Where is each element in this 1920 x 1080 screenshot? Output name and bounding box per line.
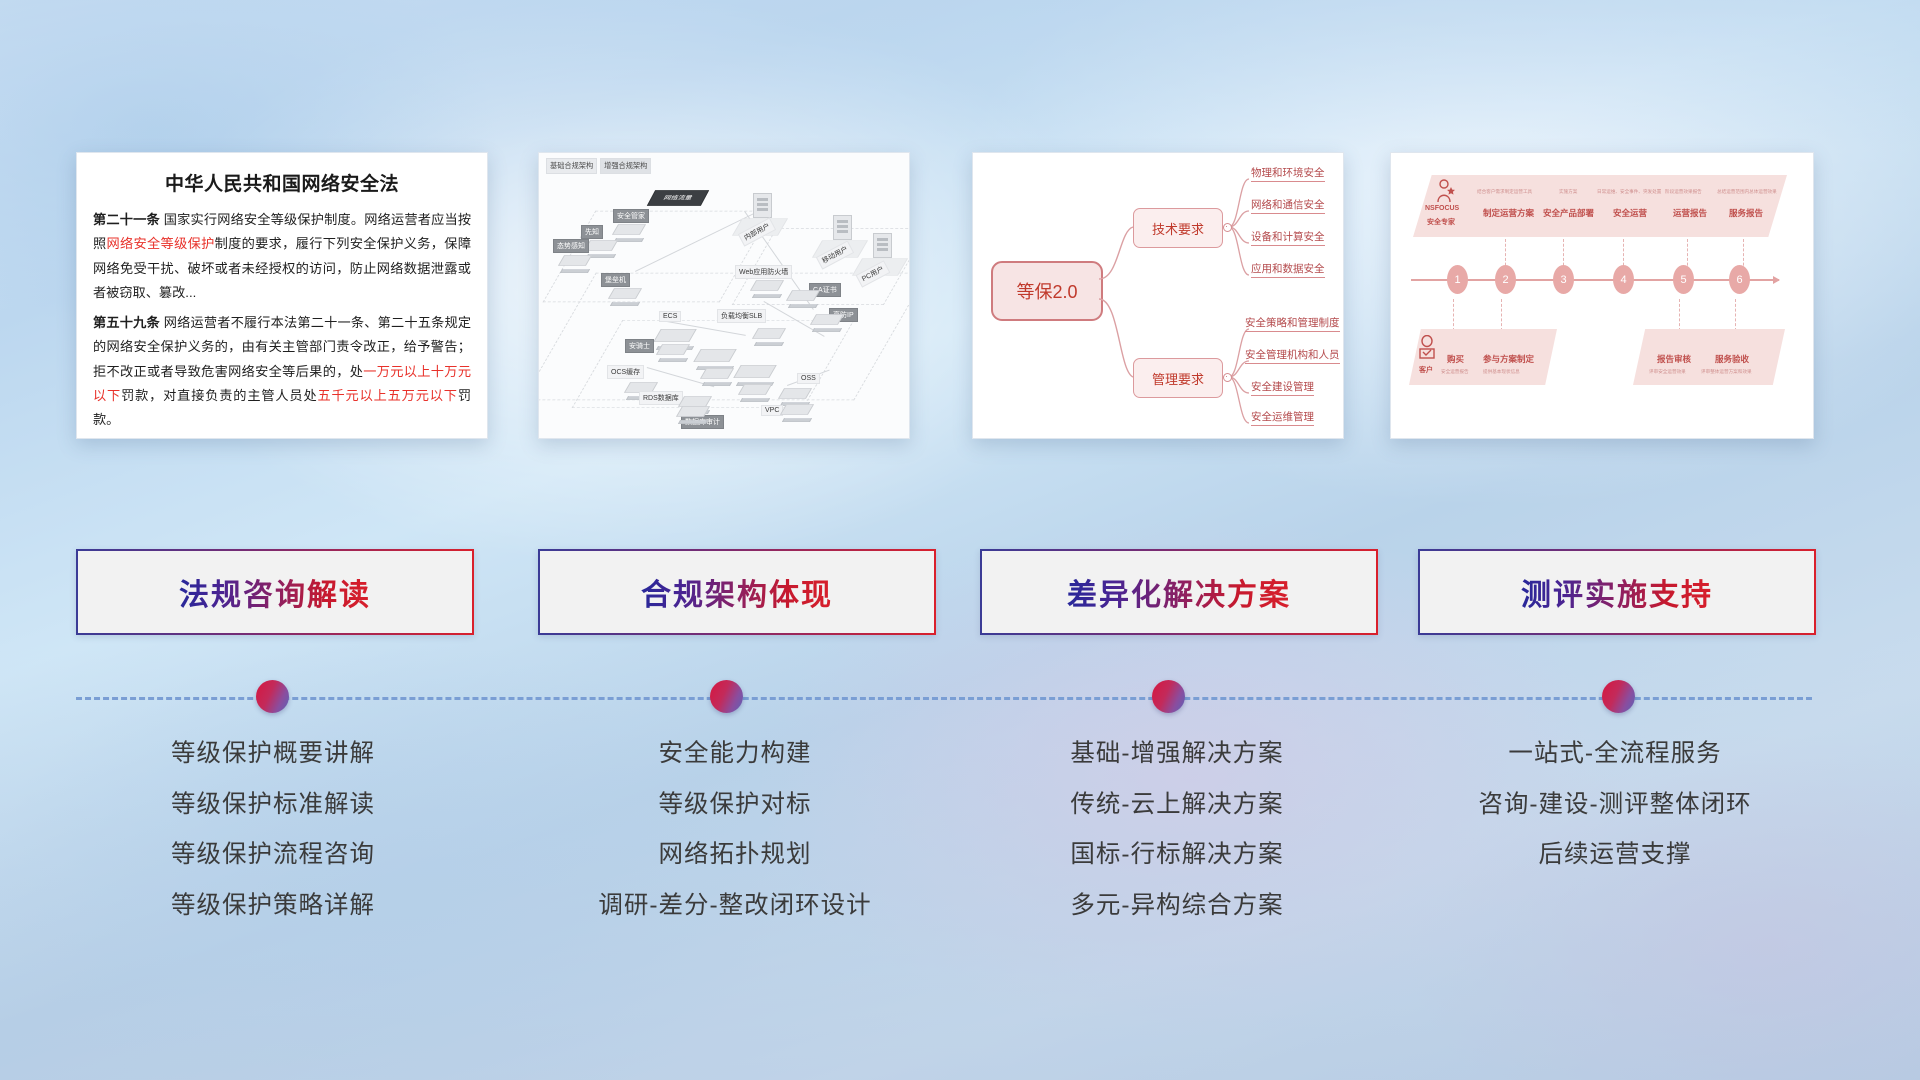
iso-aegis: [659, 341, 687, 363]
list-item: 国标-行标解决方案: [980, 843, 1374, 868]
iso-waf: [753, 277, 781, 299]
list-item: 基础-增强解决方案: [980, 742, 1374, 767]
iso-cluster-4: [741, 381, 769, 403]
timeline-marker-4[interactable]: [1602, 680, 1635, 713]
list-item: 咨询-建设-测评整体闭环: [1418, 793, 1812, 818]
law-paragraph-1: 第二十一条 国家实行网络安全等级保护制度。网络运营者应当按照网络安全等级保护制度…: [93, 208, 471, 306]
section-title-1: 法规咨询解读: [179, 570, 371, 614]
customer-step-1-label: 购买: [1447, 353, 1464, 365]
list-item: 等级保护标准解读: [76, 793, 470, 818]
mindmap-diagram: 等保2.0 技术要求 管理要求 物理和环境安全 网络和通信安全 设备和计算安全: [973, 153, 1343, 438]
timeline-marker-1[interactable]: [256, 680, 289, 713]
mindmap-branch-technical: 技术要求: [1133, 208, 1223, 248]
preview-card-architecture[interactable]: 基础合规架构 增强合规架构 网络流量 安全管家 先知 态势感知: [538, 152, 910, 439]
section-title-box-3[interactable]: 差异化解决方案: [980, 549, 1378, 635]
mindmap-branch-management: 管理要求: [1133, 358, 1223, 398]
customer-step-3-sub: 评审安全运营效果: [1649, 369, 1686, 375]
expert-person-icon: [1435, 179, 1457, 203]
list-item: 等级保护策略详解: [76, 894, 470, 919]
law-content: 中华人民共和国网络安全法 第二十一条 国家实行网络安全等级保护制度。网络运营者应…: [77, 153, 487, 438]
step-number-4: 4: [1613, 265, 1634, 294]
timeline-marker-3[interactable]: [1152, 680, 1185, 713]
mindmap-leaf-tech-3: 设备和计算安全: [1251, 229, 1325, 246]
provider-step-5-label: 服务报告: [1729, 207, 1763, 219]
timeline-dashed-line: [76, 697, 1812, 700]
band-provider: [1413, 175, 1787, 237]
list-item: 网络拓扑规划: [538, 843, 932, 868]
bullet-column-1: 等级保护概要讲解 等级保护标准解读 等级保护流程咨询 等级保护策略详解: [76, 742, 470, 944]
iso-ca-certificate: [789, 287, 817, 309]
provider-step-2-sub: 实施方案: [1559, 189, 1577, 195]
iso-bastion-host: [611, 285, 639, 307]
step-number-1: 1: [1447, 265, 1468, 294]
preview-card-law[interactable]: 中华人民共和国网络安全法 第二十一条 国家实行网络安全等级保护制度。网络运营者应…: [76, 152, 488, 439]
node-network-traffic: 网络流量: [647, 190, 709, 206]
mindmap-leaf-mgmt-4: 安全运维管理: [1251, 409, 1314, 426]
law-article-label-1: 第二十一条: [93, 212, 160, 227]
band-customer-right: [1633, 329, 1785, 385]
architecture-diagram: 基础合规架构 增强合规架构 网络流量 安全管家 先知 态势感知: [539, 153, 909, 438]
customer-step-4-sub: 评审整体运营方案和效果: [1701, 369, 1752, 375]
mindmap-leaf-tech-2: 网络和通信安全: [1251, 197, 1325, 214]
icon-mobile-user: [833, 215, 852, 240]
timeline-marker-2[interactable]: [710, 680, 743, 713]
iso-anti-ddos-ip: [813, 311, 841, 333]
customer-step-4-label: 服务验收: [1715, 353, 1749, 365]
customer-role-label: 客户: [1419, 365, 1433, 375]
mindmap-collapse-icon-technical[interactable]: [1223, 223, 1232, 232]
list-item: 等级保护对标: [538, 793, 932, 818]
section-title-box-1[interactable]: 法规咨询解读: [76, 549, 474, 635]
dash-bottom-2: [1501, 299, 1503, 331]
mindmap-leaf-mgmt-2: 安全管理机构和人员: [1245, 347, 1340, 364]
icon-internal-user: [753, 193, 772, 218]
list-item: 一站式-全流程服务: [1418, 742, 1812, 767]
mindmap-collapse-icon-management[interactable]: [1223, 373, 1232, 382]
iso-situational-awareness: [561, 252, 589, 274]
node-aegis: 安骑士: [625, 339, 654, 353]
provider-step-1-label: 制定运营方案: [1483, 207, 1534, 219]
provider-step-3-sub: 日常运维、安全事件、突发处置: [1597, 189, 1661, 195]
section-title-2: 合规架构体现: [641, 570, 833, 614]
law-seg-1-1-highlight: 网络安全等级保护: [107, 236, 215, 251]
iso-security-butler: [615, 221, 643, 243]
list-item: 传统-云上解决方案: [980, 793, 1374, 818]
iso-cluster-2: [703, 365, 731, 387]
law-article-label-2: 第五十九条: [93, 315, 160, 330]
preview-card-service-flow[interactable]: NSFOCUS 安全专家 结合客户需求制定运营工具 制定运营方案 实施方案 安全…: [1390, 152, 1814, 439]
tab-enhanced-compliance[interactable]: 增强合规架构: [600, 158, 651, 174]
list-item: 后续运营支撑: [1418, 843, 1812, 868]
list-item: 等级保护概要讲解: [76, 742, 470, 767]
provider-step-4-label: 运营报告: [1673, 207, 1707, 219]
provider-role-line1: NSFOCUS: [1425, 205, 1459, 212]
list-item: 安全能力构建: [538, 742, 932, 767]
list-item: 等级保护流程咨询: [76, 843, 470, 868]
step-number-3: 3: [1553, 265, 1574, 294]
mindmap-leaf-mgmt-3: 安全建设管理: [1251, 379, 1314, 396]
iso-vpc: [783, 401, 811, 423]
customer-step-3-label: 报告审核: [1657, 353, 1691, 365]
customer-step-1-sub: 安全运营报告: [1441, 369, 1469, 375]
provider-step-2-label: 安全产品部署: [1543, 207, 1594, 219]
law-paragraph-2: 第五十九条 网络运营者不履行本法第二十一条、第二十五条规定的网络安全保护义务的，…: [93, 311, 471, 433]
architecture-tabs[interactable]: 基础合规架构 增强合规架构: [546, 158, 651, 174]
iso-slb: [755, 325, 783, 347]
node-ecs: ECS: [659, 311, 681, 322]
provider-role-line2: 安全专家: [1427, 217, 1455, 227]
iso-db-audit: [679, 403, 707, 425]
mindmap-leaf-mgmt-1: 安全策略和管理制度: [1245, 315, 1340, 332]
dash-bottom-1: [1453, 299, 1455, 331]
step-number-5: 5: [1673, 265, 1694, 294]
dash-bottom-3: [1679, 299, 1681, 331]
customer-person-icon: [1417, 335, 1437, 361]
dash-bottom-4: [1735, 299, 1737, 331]
list-item: 多元-异构综合方案: [980, 894, 1374, 919]
provider-step-1-sub: 结合客户需求制定运营工具: [1477, 189, 1532, 195]
bullet-column-2: 安全能力构建 等级保护对标 网络拓扑规划 调研-差分-整改闭环设计: [538, 742, 932, 944]
law-title: 中华人民共和国网络安全法: [93, 169, 471, 196]
law-seg-2-2: 罚款，对直接负责的主管人员处: [121, 388, 317, 403]
service-flow-diagram: NSFOCUS 安全专家 结合客户需求制定运营工具 制定运营方案 实施方案 安全…: [1391, 153, 1813, 438]
section-title-3: 差异化解决方案: [1067, 570, 1291, 614]
node-ocs-cache: OCS缓存: [607, 365, 644, 379]
step-number-6: 6: [1729, 265, 1750, 294]
section-title-box-4[interactable]: 测评实施支持: [1418, 549, 1816, 635]
section-title-box-2[interactable]: 合规架构体现: [538, 549, 936, 635]
node-slb: 负载均衡SLB: [717, 309, 766, 323]
mindmap-leaf-tech-4: 应用和数据安全: [1251, 261, 1325, 278]
tab-basic-compliance[interactable]: 基础合规架构: [546, 158, 597, 174]
customer-step-2-sub: 提供基本现状信息: [1483, 369, 1520, 375]
preview-card-mindmap[interactable]: 等保2.0 技术要求 管理要求 物理和环境安全 网络和通信安全 设备和计算安全: [972, 152, 1344, 439]
bullet-column-4: 一站式-全流程服务 咨询-建设-测评整体闭环 后续运营支撑: [1418, 742, 1812, 894]
list-item: 调研-差分-整改闭环设计: [538, 894, 932, 919]
provider-step-5-sub: 总结运营范围内总体运营效果: [1717, 189, 1777, 195]
node-rds: RDS数据库: [639, 391, 683, 405]
mindmap-leaf-tech-1: 物理和环境安全: [1251, 165, 1325, 182]
node-oss: OSS: [797, 373, 820, 384]
bullet-column-3: 基础-增强解决方案 传统-云上解决方案 国标-行标解决方案 多元-异构综合方案: [980, 742, 1374, 944]
provider-step-4-sub: 阶段运营效果报告: [1665, 189, 1702, 195]
law-seg-2-3-highlight: 五千元以上五万元以下: [318, 388, 458, 403]
provider-step-3-label: 安全运营: [1613, 207, 1647, 219]
node-situational-awareness: 态势感知: [553, 239, 589, 253]
customer-step-2-label: 参与方案制定: [1483, 353, 1534, 365]
step-number-2: 2: [1495, 265, 1516, 294]
section-title-4: 测评实施支持: [1521, 570, 1713, 614]
icon-pc-user: [873, 233, 892, 258]
